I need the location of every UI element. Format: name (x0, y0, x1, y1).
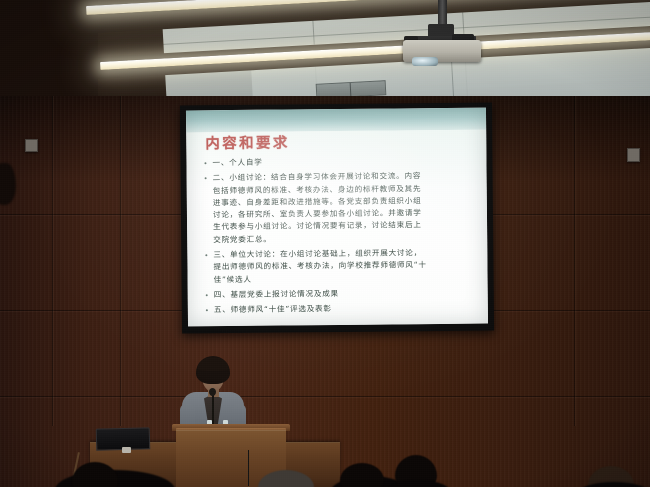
slide-line: 佳”候选人 (214, 271, 478, 286)
wall-panel-joint (120, 96, 121, 426)
desk-small-object (122, 447, 131, 453)
list-item: 四、基层党委上报讨论情况及成果 (206, 287, 478, 302)
slide-line: 交院党委汇总。 (213, 231, 477, 246)
wall-panel-joint (52, 96, 53, 426)
projection-screen-surface: 内容和要求 一、个人自学 二、小组讨论：结合自身学习体会开展讨论和交流。内容 包… (186, 108, 488, 327)
wall-outlet-plate (25, 139, 38, 152)
ceiling-beam-left-soffit (0, 0, 98, 104)
list-item: 三、单位大讨论：在小组讨论基础上，组织开展大讨论， 提出师德师风的标准、考核办法… (205, 247, 477, 286)
lecture-hall-scene: 内容和要求 一、个人自学 二、小组讨论：结合自身学习体会开展讨论和交流。内容 包… (0, 0, 650, 487)
wall-outlet-plate (627, 148, 640, 162)
projector-mount-pole (438, 0, 447, 26)
wall-panel-joint (574, 96, 575, 426)
projector-lens (412, 57, 438, 66)
list-item: 二、小组讨论：结合自身学习体会开展讨论和交流。内容 包括师德师风的标准、考核办法… (205, 170, 478, 246)
slide-line: 四、基层党委上报讨论情况及成果 (214, 287, 478, 302)
list-item: 一、个人自学 (204, 155, 476, 170)
microphone-cable (248, 450, 249, 486)
gooseneck-microphone (212, 392, 214, 426)
slide-line: 五、师德师风“十佳”评选及表彰 (214, 302, 478, 317)
projection-screen: 内容和要求 一、个人自学 二、小组讨论：结合自身学习体会开展讨论和交流。内容 包… (180, 103, 494, 334)
wall-panel-seam (0, 396, 650, 397)
slide-header-band (186, 108, 486, 133)
ceiling (0, 0, 650, 104)
slide-line: 一、个人自学 (212, 155, 476, 170)
microphone-head (209, 388, 216, 396)
list-item: 五、师德师风“十佳”评选及表彰 (206, 302, 478, 317)
slide-title: 内容和要求 (205, 131, 290, 153)
slide-bullet-list: 一、个人自学 二、小组讨论：结合自身学习体会开展讨论和交流。内容 包括师德师风的… (204, 155, 478, 320)
